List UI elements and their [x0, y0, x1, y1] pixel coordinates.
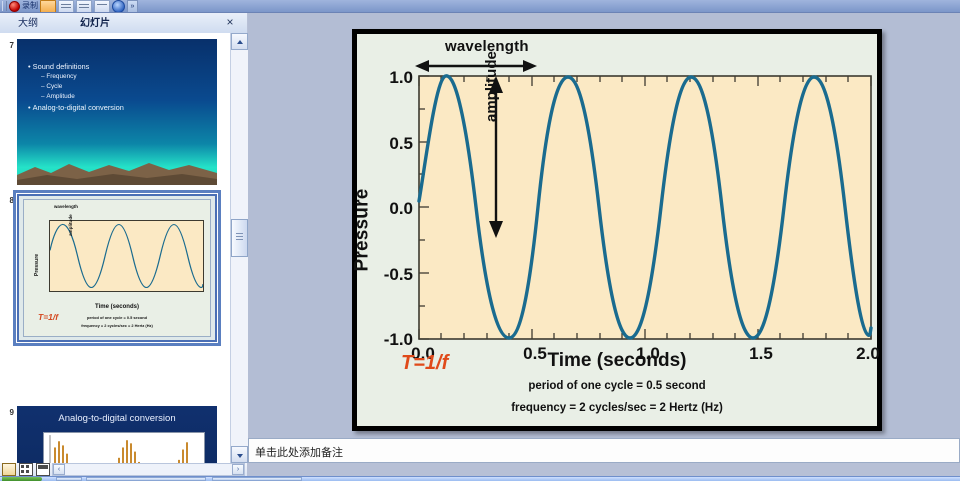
pane-tabstrip: 大纲 幻灯片 × — [0, 13, 247, 34]
bar-chart-graphic — [44, 433, 204, 463]
scroll-up-button[interactable] — [231, 33, 248, 50]
slide-list-scrollbar[interactable] — [230, 33, 248, 463]
windows-taskbar — [0, 476, 960, 481]
slide-thumbnail-7[interactable]: • Sound definitions – Frequency – Cycle … — [17, 39, 217, 185]
list-item[interactable]: 9 Analog-to-digital conversion — [0, 406, 230, 463]
tab-outline[interactable]: 大纲 — [8, 16, 47, 32]
thumbnail-canvas: wavelength amplitude Pressure Time (seco… — [23, 199, 211, 337]
toolbar-overflow-icon[interactable]: » — [127, 0, 138, 13]
tab-outline-label: 大纲 — [18, 18, 38, 29]
plot-svg: 1.0 0.5 0.0 -0.5 -1.0 0.0 0.5 1.0 1.5 2.… — [357, 34, 887, 436]
wave-figure: wavelength Pressure — [357, 34, 877, 426]
y-tick-label: 0.5 — [389, 134, 413, 153]
help-icon[interactable] — [112, 0, 125, 13]
thumb-bar-chart — [43, 432, 205, 463]
pencil-draw-icon[interactable] — [40, 0, 56, 13]
highlighter-icon[interactable] — [76, 0, 92, 13]
list-item[interactable]: 8 wavelength amplitude Pressure Time (se… — [0, 194, 230, 342]
slide-navigator-pane: 大纲 幻灯片 × 7 • Sound definitions – Frequen… — [0, 13, 247, 463]
thumb-xlabel: Time (seconds) — [24, 304, 210, 310]
y-tick-label: -0.5 — [384, 265, 413, 284]
horizontal-scrollbar[interactable]: ‹ › — [52, 463, 245, 476]
scroll-left-button[interactable]: ‹ — [53, 464, 65, 475]
bullet-line: – Amplitude — [41, 92, 124, 102]
eraser-icon[interactable] — [58, 0, 74, 13]
grip-handle[interactable] — [2, 1, 7, 11]
slide-thumbnail-8[interactable]: wavelength amplitude Pressure Time (seco… — [17, 194, 217, 342]
scroll-down-button[interactable] — [231, 446, 248, 463]
recording-toolbar: 录制 » — [0, 0, 960, 13]
record-dot-icon[interactable] — [9, 1, 20, 12]
bullet-line: • Analog-to-digital conversion — [28, 102, 124, 113]
powerpoint-window: 录制 » 大纲 幻灯片 × 7 • Sou — [0, 0, 960, 480]
taskbar-item[interactable] — [56, 477, 82, 481]
slide-thumbnail-list[interactable]: 7 • Sound definitions – Frequency – Cycl… — [0, 33, 230, 463]
bullet-line: – Cycle — [41, 82, 124, 92]
start-button[interactable] — [2, 477, 42, 481]
record-label: 录制 — [22, 2, 38, 10]
list-item[interactable]: 7 • Sound definitions – Frequency – Cycl… — [0, 39, 230, 185]
thumb-title: Analog-to-digital conversion — [17, 413, 217, 424]
amplitude-label: amplitude — [483, 51, 500, 122]
caption-period: period of one cycle = 0.5 second — [357, 380, 877, 392]
slideshow-icon[interactable] — [94, 0, 110, 13]
tab-slides-label: 幻灯片 — [80, 18, 110, 29]
thumb-caption-frequency: frequency = 2 cycles/sec = 2 Hertz (Hz) — [24, 323, 210, 328]
slide-number: 7 — [0, 39, 17, 50]
notes-placeholder[interactable]: 单击此处添加备注 — [248, 438, 960, 463]
mountain-graphic-icon — [17, 155, 217, 185]
thumb-wavelength-label: wavelength — [54, 204, 78, 209]
scroll-right-button[interactable]: › — [232, 464, 244, 475]
slide-show-view-button[interactable] — [36, 463, 50, 476]
taskbar-item[interactable] — [86, 477, 206, 481]
y-tick-label: 1.0 — [389, 68, 413, 87]
formula-label: T=1/f — [401, 352, 448, 375]
bullet-line: • Sound definitions — [28, 61, 124, 72]
slide-editing-workspace: wavelength Pressure — [248, 13, 960, 438]
slide-sorter-view-button[interactable] — [19, 463, 33, 476]
bullet-line: – Frequency — [41, 72, 124, 82]
tab-slides[interactable]: 幻灯片 — [70, 16, 119, 32]
normal-view-button[interactable] — [2, 463, 16, 476]
slide-thumbnail-9[interactable]: Analog-to-digital conversion — [17, 406, 217, 463]
thumb-amplitude-label: amplitude — [68, 214, 73, 236]
thumb-ylabel: Pressure — [34, 254, 40, 276]
current-slide-canvas[interactable]: wavelength Pressure — [352, 29, 882, 431]
taskbar-item[interactable] — [212, 477, 302, 481]
thumb-caption-period: period of one cycle = 0.5 second — [24, 315, 210, 320]
y-tick-label: -1.0 — [384, 330, 413, 349]
close-pane-icon[interactable]: × — [223, 16, 237, 30]
scrollbar-thumb[interactable] — [231, 219, 248, 257]
slide-number: 8 — [0, 194, 17, 205]
caption-frequency: frequency = 2 cycles/sec = 2 Hertz (Hz) — [357, 402, 877, 414]
y-tick-label: 0.0 — [389, 199, 413, 218]
slide-number: 9 — [0, 406, 17, 417]
thumbnail-text-block: • Sound definitions – Frequency – Cycle … — [28, 61, 124, 113]
